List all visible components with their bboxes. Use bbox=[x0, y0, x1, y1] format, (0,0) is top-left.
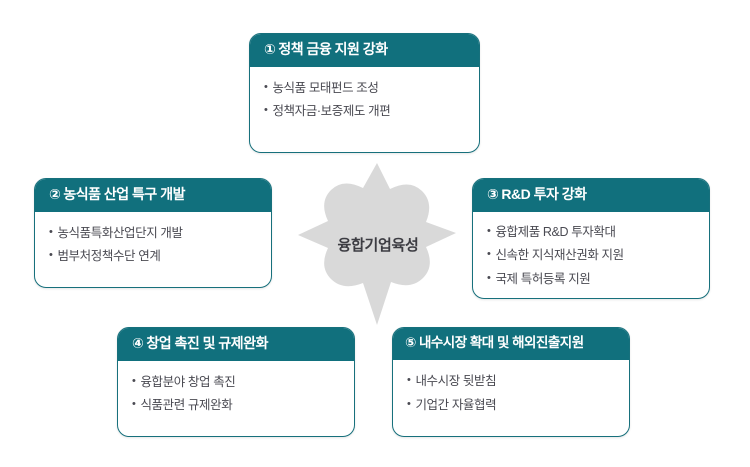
bullet-text: 기업간 자율협력 bbox=[415, 397, 496, 414]
bullet-dot-icon: • bbox=[132, 397, 135, 412]
bullet-item: • 정책자금·보증제도 개편 bbox=[264, 103, 469, 120]
card-number: ② bbox=[49, 186, 60, 202]
card-title: 농식품 산업 특구 개발 bbox=[63, 186, 185, 202]
bullet-text: 융합제품 R&D 투자확대 bbox=[495, 224, 615, 241]
bullet-item: • 범부처정책수단 연계 bbox=[49, 248, 261, 265]
bullet-dot-icon: • bbox=[487, 224, 490, 239]
card-header: ①정책 금융 지원 강화 bbox=[250, 34, 479, 67]
bullet-text: 융합분야 창업 촉진 bbox=[140, 374, 235, 391]
card-title: R&D 투자 강화 bbox=[501, 186, 586, 202]
center-node: 융합기업육성 bbox=[298, 163, 456, 325]
bullet-text: 내수시장 뒷받침 bbox=[415, 373, 496, 390]
center-label: 융합기업육성 bbox=[298, 163, 456, 325]
card-title: 내수시장 확대 및 해외진출지원 bbox=[419, 335, 584, 350]
bullet-dot-icon: • bbox=[407, 397, 410, 412]
bullet-item: • 신속한 지식재산권화 지원 bbox=[487, 247, 699, 264]
card-body: • 농식품특화산업단지 개발 • 범부처정책수단 연계 bbox=[35, 212, 271, 276]
bullet-item: • 농식품특화산업단지 개발 bbox=[49, 225, 261, 242]
card-policy-finance[interactable]: ①정책 금융 지원 강화 • 농식품 모태펀드 조성 • 정책자금·보증제도 개… bbox=[249, 33, 480, 153]
bullet-item: • 기업간 자율협력 bbox=[407, 397, 619, 414]
bullet-item: • 식품관련 규제완화 bbox=[132, 397, 344, 414]
bullet-item: • 융합제품 R&D 투자확대 bbox=[487, 224, 699, 241]
bullet-dot-icon: • bbox=[132, 374, 135, 389]
bullet-text: 범부처정책수단 연계 bbox=[57, 248, 160, 265]
card-number: ④ bbox=[132, 335, 143, 351]
bullet-dot-icon: • bbox=[487, 247, 490, 262]
card-title: 정책 금융 지원 강화 bbox=[278, 41, 387, 57]
bullet-item: • 융합분야 창업 촉진 bbox=[132, 374, 344, 391]
bullet-dot-icon: • bbox=[487, 271, 490, 286]
bullet-dot-icon: • bbox=[49, 225, 52, 240]
bullet-item: • 국제 특허등록 지원 bbox=[487, 271, 699, 288]
card-title: 창업 촉진 및 규제완화 bbox=[146, 335, 268, 351]
bullet-text: 농식품 모태펀드 조성 bbox=[272, 80, 378, 97]
bullet-dot-icon: • bbox=[49, 248, 52, 263]
bullet-text: 신속한 지식재산권화 지원 bbox=[495, 247, 623, 264]
card-body: • 융합분야 창업 촉진 • 식품관련 규제완화 bbox=[118, 361, 354, 425]
card-header: ②농식품 산업 특구 개발 bbox=[35, 179, 271, 212]
card-market-expansion[interactable]: ⑤내수시장 확대 및 해외진출지원 • 내수시장 뒷받침 • 기업간 자율협력 bbox=[392, 327, 630, 437]
bullet-item: • 농식품 모태펀드 조성 bbox=[264, 80, 469, 97]
card-header: ⑤내수시장 확대 및 해외진출지원 bbox=[393, 328, 629, 360]
card-rnd-investment[interactable]: ③R&D 투자 강화 • 융합제품 R&D 투자확대 • 신속한 지식재산권화 … bbox=[472, 178, 710, 299]
bullet-text: 국제 특허등록 지원 bbox=[495, 271, 590, 288]
bullet-item: • 내수시장 뒷받침 bbox=[407, 373, 619, 390]
bullet-text: 정책자금·보증제도 개편 bbox=[272, 103, 390, 120]
card-body: • 농식품 모태펀드 조성 • 정책자금·보증제도 개편 bbox=[250, 67, 479, 131]
card-startup-deregulation[interactable]: ④창업 촉진 및 규제완화 • 융합분야 창업 촉진 • 식품관련 규제완화 bbox=[117, 327, 355, 437]
card-industry-zone[interactable]: ②농식품 산업 특구 개발 • 농식품특화산업단지 개발 • 범부처정책수단 연… bbox=[34, 178, 272, 288]
card-number: ① bbox=[264, 41, 275, 57]
card-header: ④창업 촉진 및 규제완화 bbox=[118, 328, 354, 361]
card-body: • 내수시장 뒷받침 • 기업간 자율협력 bbox=[393, 360, 629, 424]
bullet-dot-icon: • bbox=[407, 373, 410, 388]
card-number: ③ bbox=[487, 186, 498, 202]
card-header: ③R&D 투자 강화 bbox=[473, 179, 709, 212]
diagram-canvas: 융합기업육성 ①정책 금융 지원 강화 • 농식품 모태펀드 조성 • 정책자금… bbox=[0, 0, 750, 467]
bullet-text: 농식품특화산업단지 개발 bbox=[57, 225, 182, 242]
bullet-text: 식품관련 규제완화 bbox=[140, 397, 232, 414]
card-number: ⑤ bbox=[405, 335, 416, 350]
bullet-dot-icon: • bbox=[264, 80, 267, 95]
card-body: • 융합제품 R&D 투자확대 • 신속한 지식재산권화 지원 • 국제 특허등… bbox=[473, 212, 709, 299]
bullet-dot-icon: • bbox=[264, 103, 267, 118]
